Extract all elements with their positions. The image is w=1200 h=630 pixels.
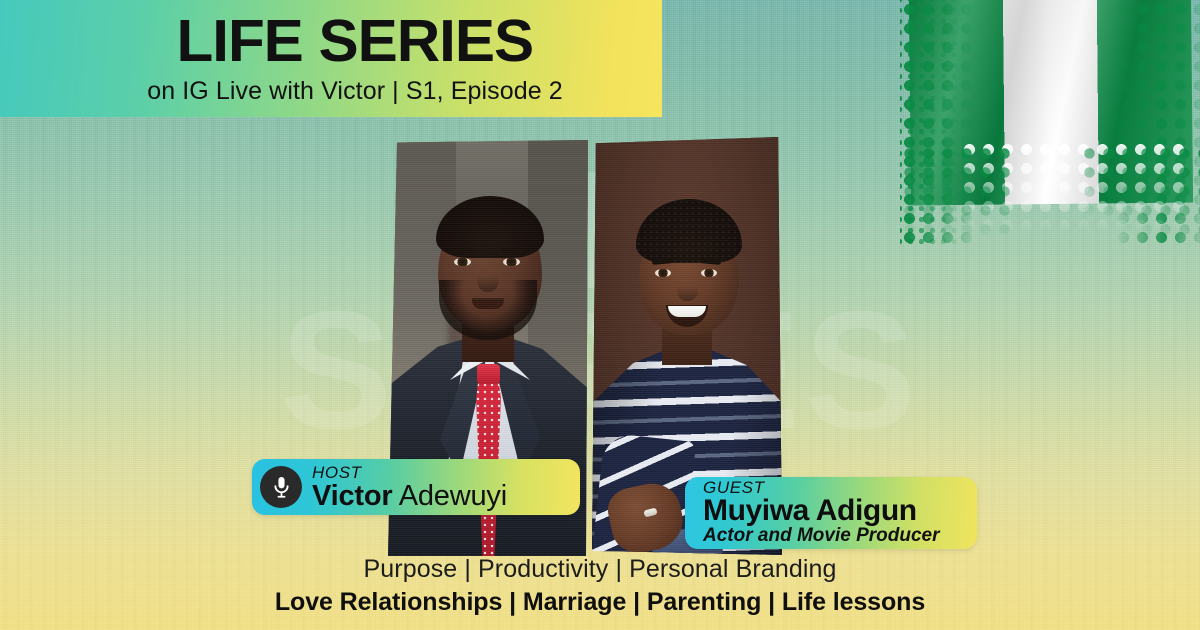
episode-subtitle: on IG Live with Victor | S1, Episode 2 — [147, 77, 563, 106]
guest-name: Muyiwa Adigun — [703, 496, 917, 527]
host-name: Victor Adewuyi — [312, 482, 507, 511]
page-title: LIFE SERIES — [177, 12, 534, 71]
topics-footer: Purpose | Productivity | Personal Brandi… — [0, 554, 1200, 618]
host-badge-text: HOST Victor Adewuyi — [312, 464, 507, 511]
header-banner: LIFE SERIES on IG Live with Victor | S1,… — [0, 0, 662, 117]
host-first-name: Victor — [312, 480, 392, 512]
nigeria-flag — [900, 0, 1200, 250]
guest-name-badge: GUEST Muyiwa Adigun Actor and Movie Prod… — [685, 477, 977, 549]
topics-line-2: Love Relationships | Marriage | Parentin… — [0, 587, 1200, 618]
halftone-dots-bottom-green-right — [1080, 144, 1200, 244]
host-role-label: HOST — [312, 464, 507, 481]
topics-line-1: Purpose | Productivity | Personal Brandi… — [0, 554, 1200, 585]
halftone-dots-bottom-green — [900, 144, 1010, 240]
host-last-name: Adewuyi — [392, 480, 506, 512]
microphone-icon — [260, 466, 302, 508]
guest-occupation: Actor and Movie Producer — [703, 526, 940, 547]
promo-poster: LIFE SERIES LIFE SERIES on IG Live with … — [0, 0, 1200, 630]
host-name-badge: HOST Victor Adewuyi — [252, 459, 580, 515]
